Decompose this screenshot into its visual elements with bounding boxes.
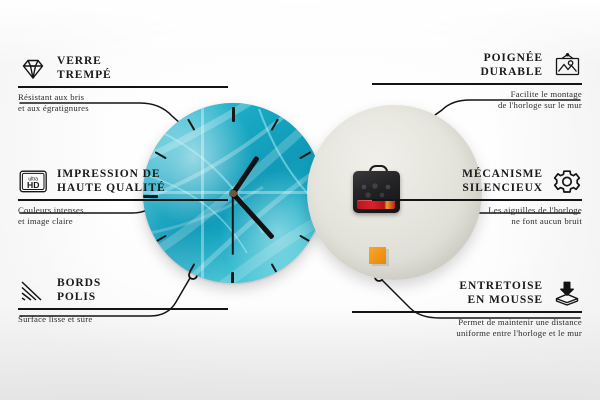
feature-desc-line1: Permet de maintenir une distance: [458, 317, 582, 327]
feature-title-line2: SILENCIEUX: [462, 182, 543, 194]
divider: [372, 83, 582, 85]
feature-poignee-durable: POIGNÉE DURABLE Facilite le montage de l…: [372, 52, 582, 111]
ultra-hd-icon: ultra HD: [18, 169, 48, 195]
divider: [18, 199, 228, 201]
feature-title-line2: HAUTE QUALITÉ: [57, 182, 166, 194]
divider: [372, 199, 582, 201]
feature-desc-line1: Facilite le montage: [511, 89, 582, 99]
feature-desc-line1: Couleurs intenses: [18, 205, 84, 215]
polished-edge-icon: [18, 278, 48, 304]
feature-title-line1: IMPRESSION DE: [57, 168, 160, 180]
foam-spacer-icon: [552, 281, 582, 307]
feature-title-line1: MÉCANISME: [462, 168, 543, 180]
feature-desc-line2: ne font aucun bruit: [511, 216, 582, 226]
ultra-hd-bottom: HD: [26, 180, 38, 190]
feature-title-line2: TREMPÉ: [57, 69, 112, 81]
gear-icon: [552, 169, 582, 195]
divider: [352, 311, 582, 313]
feature-desc-line1: Les aiguilles de l'horloge: [488, 205, 582, 215]
hanging-picture-icon: [552, 53, 582, 79]
feature-desc-line2: et image claire: [18, 216, 73, 226]
feature-mecanisme-silencieux: MÉCANISME SILENCIEUX Les aiguilles de l'…: [372, 168, 582, 227]
feature-title-line2: DURABLE: [480, 66, 543, 78]
feature-bords-polis: BORDS POLIS Surface lisse et sûre: [18, 277, 228, 325]
feature-desc-line2: de l'horloge sur le mur: [498, 100, 582, 110]
foam-spacer: [369, 247, 386, 264]
feature-desc-line2: et aux égratignures: [18, 103, 89, 113]
feature-title-line1: BORDS: [57, 277, 101, 289]
feature-title-line1: POIGNÉE: [484, 52, 543, 64]
feature-desc-line1: Résistant aux bris: [18, 92, 84, 102]
diamond-icon: [18, 56, 48, 82]
feature-title-line2: EN MOUSSE: [467, 294, 543, 306]
feature-desc-line1: Surface lisse et sûre: [18, 314, 92, 324]
divider: [18, 308, 228, 310]
infographic-canvas: VERRE TREMPÉ Résistant aux bris et aux é…: [0, 0, 600, 400]
feature-entretoise-en-mousse: ENTRETOISE EN MOUSSE Permet de maintenir…: [352, 280, 582, 339]
second-hand: [232, 193, 234, 255]
feature-title-line1: ENTRETOISE: [459, 280, 543, 292]
hand-center-cap: [230, 190, 237, 197]
feature-impression-haute-qualite: ultra HD IMPRESSION DE HAUTE QUALITÉ Cou…: [18, 168, 228, 227]
feature-title-line2: POLIS: [57, 291, 96, 303]
feature-title-line1: VERRE: [57, 55, 102, 67]
feature-verre-trempe: VERRE TREMPÉ Résistant aux bris et aux é…: [18, 55, 228, 114]
divider: [18, 86, 228, 88]
feature-desc-line2: uniforme entre l'horloge et le mur: [456, 328, 582, 338]
